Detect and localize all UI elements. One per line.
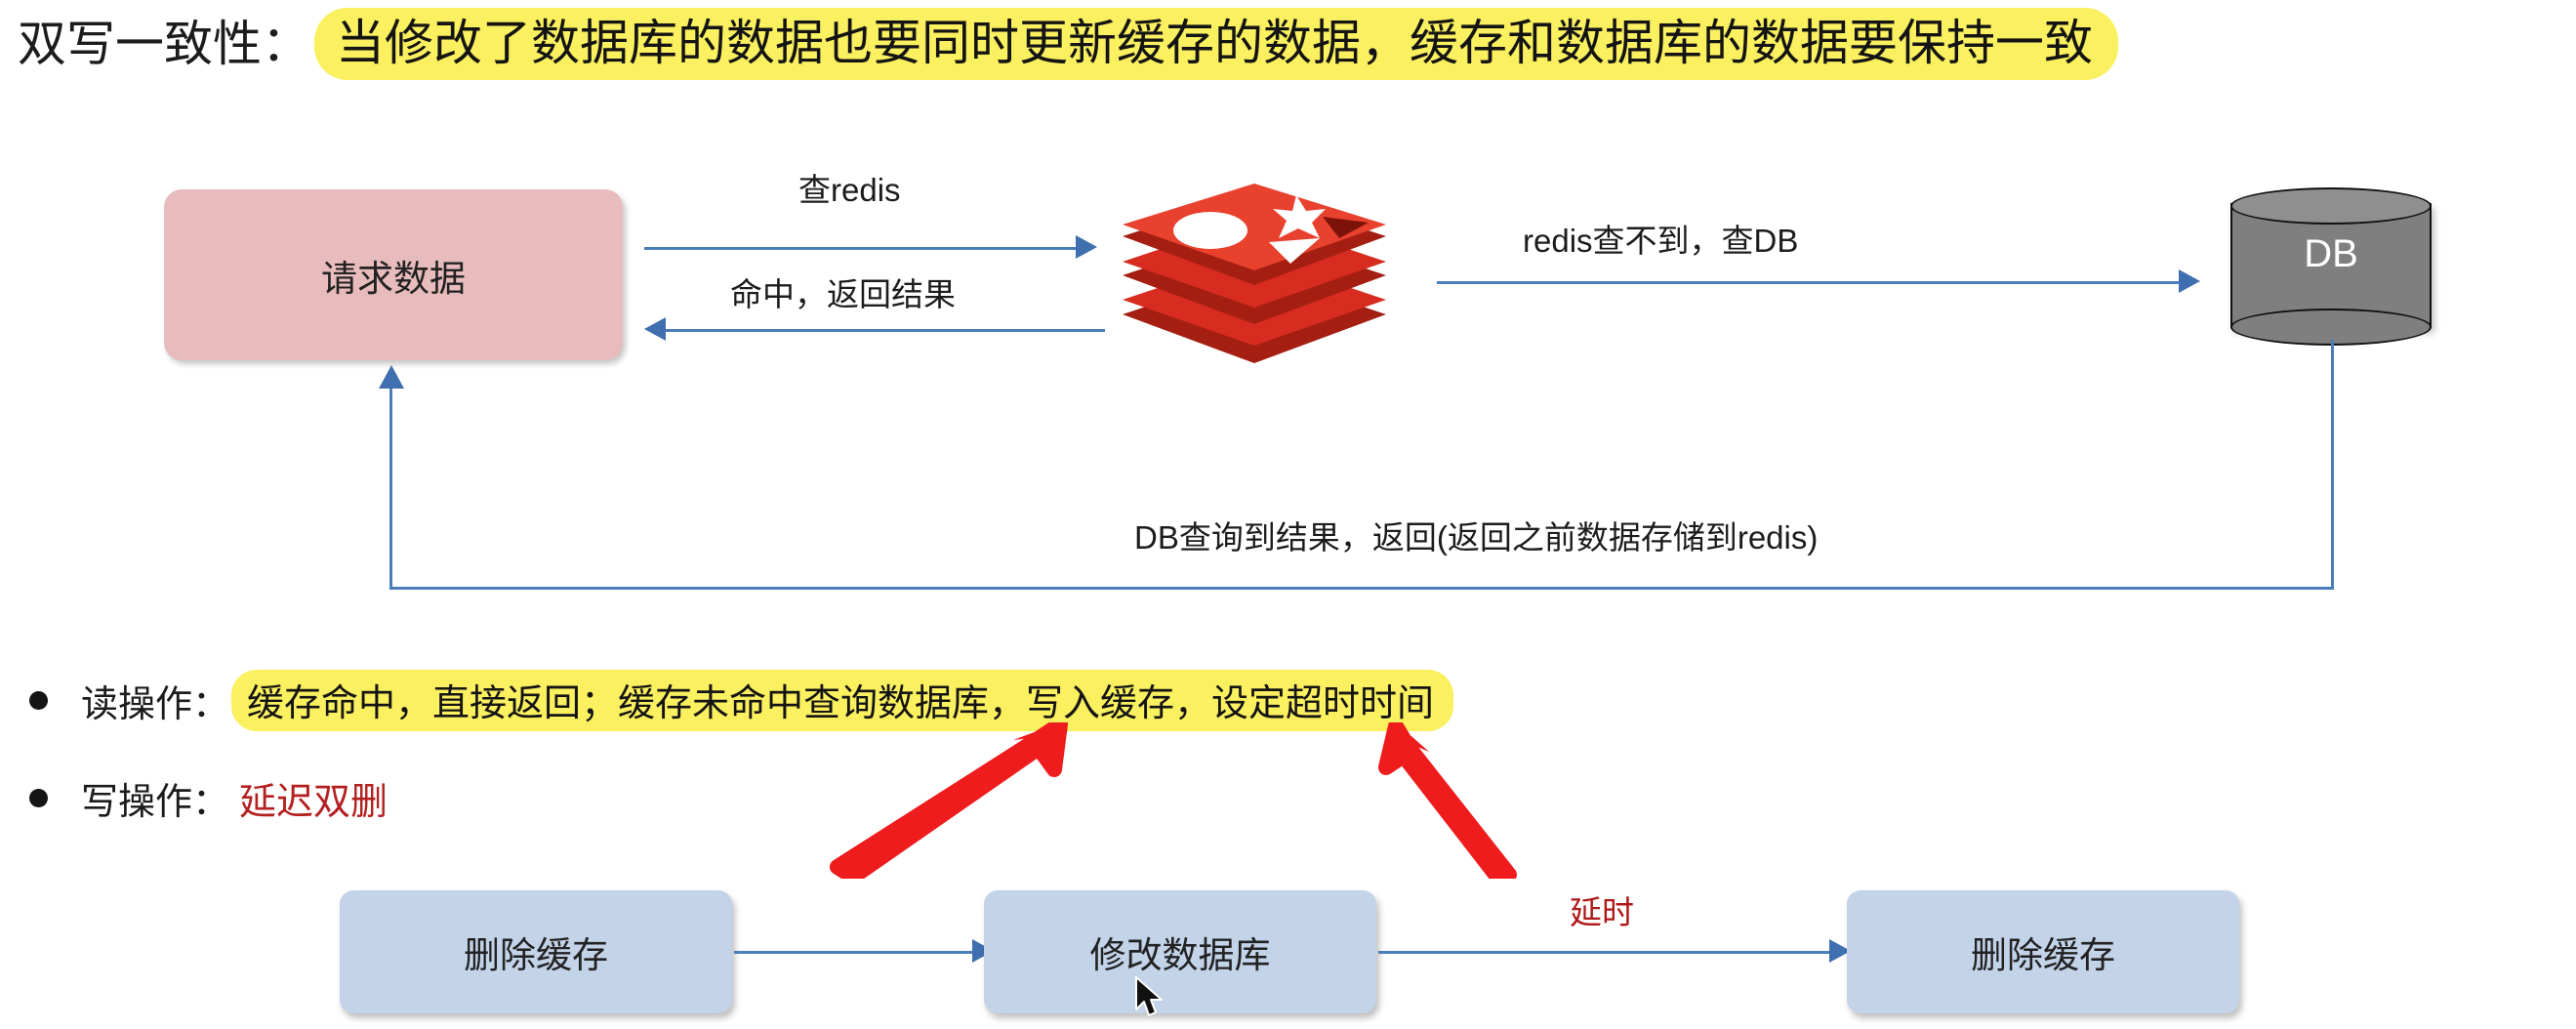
edge-label-hit-return: 命中，返回结果	[730, 268, 956, 315]
bullet-write-red-text: 延迟双删	[239, 771, 388, 825]
flow-step-3-delete-cache: 删除缓存	[1847, 890, 2239, 1013]
edge-arrowhead-redis-miss	[2179, 269, 2200, 293]
flow-step-2-update-db: 修改数据库	[984, 890, 1376, 1013]
loop-line-bottom	[389, 587, 2334, 590]
node-request-data-label: 请求数据	[321, 249, 466, 302]
bullet-write-label: 写操作：	[81, 771, 229, 825]
page-title-label: 双写一致性：	[18, 13, 310, 75]
flow-step-1-label: 删除缓存	[464, 926, 608, 978]
edge-label-db-return: DB查询到结果，返回(返回之前数据存储到redis)	[1134, 512, 1818, 558]
loop-line-db-down	[2331, 340, 2334, 590]
flow-line-2-3	[1378, 951, 1835, 954]
db-cylinder-top	[2230, 187, 2432, 225]
edge-arrowhead-query-redis	[1076, 235, 1097, 259]
page-title-highlight: 当修改了数据库的数据也要同时更新缓存的数据，缓存和数据库的数据要保持一致	[314, 8, 2118, 80]
flow-step-2-label: 修改数据库	[1090, 926, 1271, 978]
flow-step-1-delete-cache: 删除缓存	[340, 890, 732, 1013]
page-title: 双写一致性： 当修改了数据库的数据也要同时更新缓存的数据，缓存和数据库的数据要保…	[18, 8, 2118, 80]
edge-arrowhead-hit-return	[644, 317, 666, 341]
red-annotation-arrow-left-icon	[830, 722, 1093, 879]
edge-label-query-redis: 查redis	[798, 164, 901, 211]
bullet-write-operation: 写操作： 延迟双删	[29, 771, 388, 825]
node-db: DB	[2230, 187, 2433, 344]
node-db-label: DB	[2230, 232, 2432, 276]
red-annotation-arrow-right-icon	[1367, 722, 1542, 879]
flow-delay-label: 延时	[1570, 886, 1634, 933]
flow-line-1-2	[734, 951, 978, 954]
edge-line-hit-return	[664, 329, 1105, 332]
bullet-read-operation: 读操作： 缓存命中，直接返回；缓存未命中查询数据库，写入缓存，设定超时时间	[29, 670, 1453, 731]
edge-line-redis-miss	[1437, 281, 2188, 284]
bullet-read-label: 读操作：	[81, 674, 229, 727]
slide-canvas: 双写一致性： 当修改了数据库的数据也要同时更新缓存的数据，缓存和数据库的数据要保…	[0, 0, 2576, 1029]
loop-arrowhead-to-request	[379, 365, 404, 389]
mouse-cursor-icon	[1134, 976, 1167, 1023]
loop-line-up	[389, 389, 392, 590]
node-request-data: 请求数据	[164, 189, 623, 360]
bullet-dot-icon	[29, 789, 48, 807]
redis-logo-icon	[1113, 178, 1396, 373]
edge-line-query-redis	[644, 247, 1085, 250]
edge-label-redis-miss: redis查不到，查DB	[1523, 215, 1798, 262]
bullet-dot-icon	[29, 691, 48, 710]
flow-step-3-label: 删除缓存	[1971, 926, 2115, 978]
